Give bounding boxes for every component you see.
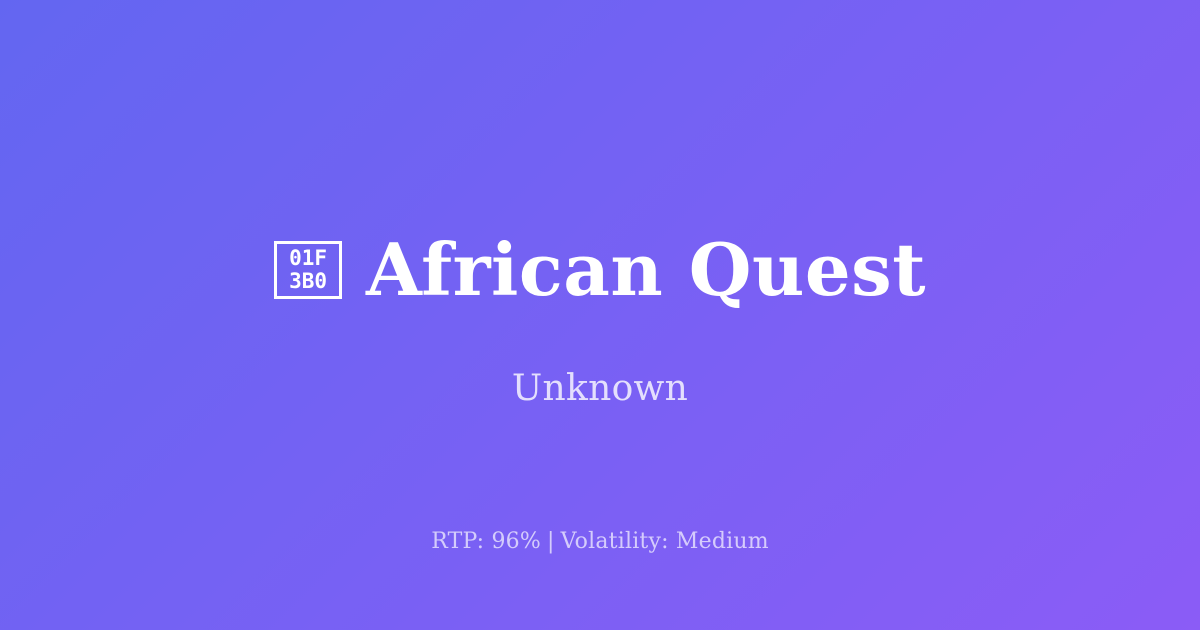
slot-machine-icon-codepoint-top: 01F (289, 247, 327, 270)
stats-separator: | (541, 529, 561, 554)
title-row: 01F 3B0 African Quest (0, 232, 1200, 308)
game-promo-card: 01F 3B0 African Quest Unknown RTP: 96%|V… (0, 0, 1200, 630)
slot-machine-icon: 01F 3B0 (274, 241, 342, 299)
rtp-value: RTP: 96% (431, 529, 541, 554)
game-stats-line: RTP: 96%|Volatility: Medium (0, 528, 1200, 556)
slot-machine-icon-codepoint-bottom: 3B0 (289, 270, 327, 293)
game-title: African Quest (366, 232, 926, 308)
game-provider-label: Unknown (0, 368, 1200, 410)
volatility-value: Volatility: Medium (561, 529, 769, 554)
